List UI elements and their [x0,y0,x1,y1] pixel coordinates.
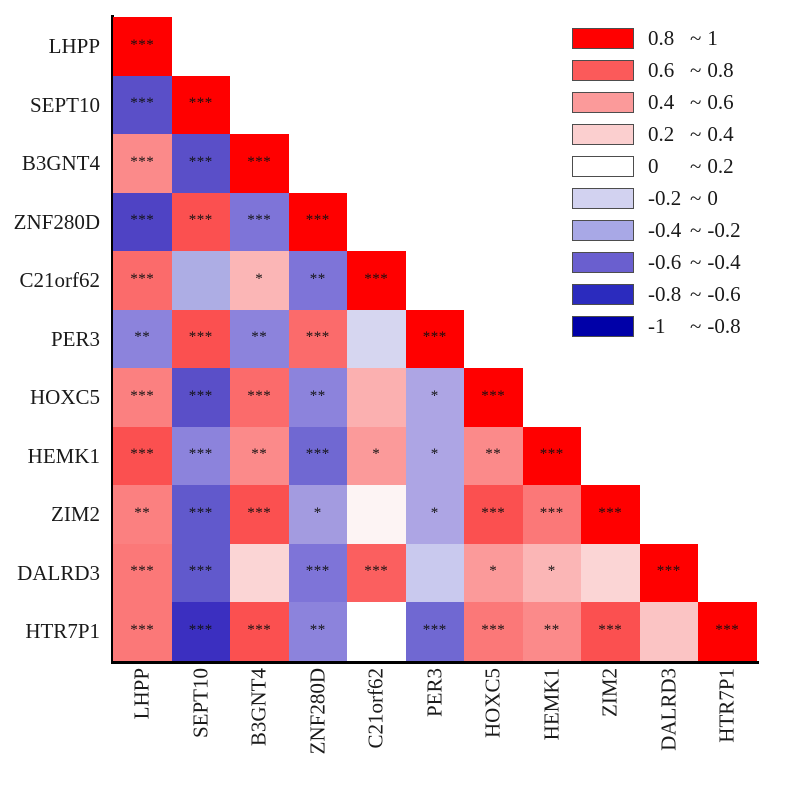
legend-label: 0.2~0.4 [648,122,734,147]
significance-stars: *** [306,564,330,579]
heatmap-cell-hemk1-hemk1[interactable]: *** [523,427,582,486]
legend-range-high: 0.8 [707,58,733,83]
legend-swatch [572,220,634,241]
x-axis-label-htr7p1: HTR7P1 [698,666,757,784]
heatmap-cell-htr7p1-hoxc5[interactable]: *** [464,602,523,661]
heatmap-cell-htr7p1-htr7p1[interactable]: *** [698,602,757,661]
heatmap-row: ****************** [113,427,757,486]
legend-swatch [572,156,634,177]
heatmap-cell-hoxc5-sept10[interactable]: *** [172,368,231,427]
heatmap-cell-dalrd3-hoxc5[interactable]: * [464,544,523,603]
legend-label: -0.6~-0.4 [648,250,741,275]
heatmap-cell-c21orf62-sept10[interactable] [172,251,231,310]
significance-stars: *** [657,564,681,579]
significance-stars: *** [130,564,154,579]
significance-stars: *** [247,389,271,404]
heatmap-cell-c21orf62-c21orf62[interactable]: *** [347,251,406,310]
legend-range-high: -0.2 [707,218,740,243]
significance-stars: * [255,272,263,287]
heatmap-cell-dalrd3-zim2[interactable] [581,544,640,603]
significance-stars: *** [481,389,505,404]
legend-label: 0~0.2 [648,154,734,179]
significance-stars: * [489,564,497,579]
significance-stars: *** [540,506,564,521]
legend-range-high: 0.6 [707,90,733,115]
significance-stars: *** [247,213,271,228]
significance-stars: ** [134,506,150,521]
heatmap-cell-c21orf62-lhpp[interactable]: *** [113,251,172,310]
significance-stars: *** [130,213,154,228]
legend-range-separator: ~ [690,218,701,243]
significance-stars: ** [310,623,326,638]
heatmap-row: *************** [113,368,757,427]
legend-label: -1~-0.8 [648,314,741,339]
legend-swatch [572,124,634,145]
heatmap-cell-hemk1-c21orf62[interactable]: * [347,427,406,486]
x-axis-line [111,661,759,664]
significance-stars: ** [485,447,501,462]
legend-swatch [572,284,634,305]
heatmap-cell-htr7p1-lhpp[interactable]: *** [113,602,172,661]
significance-stars: *** [306,447,330,462]
y-axis-labels: LHPPSEPT10B3GNT4ZNF280DC21orf62PER3HOXC5… [0,17,106,661]
legend-range-separator: ~ [690,26,701,51]
heatmap-cell-zim2-hemk1[interactable]: *** [523,485,582,544]
legend-swatch [572,60,634,81]
significance-stars: *** [423,623,447,638]
significance-stars: ** [134,330,150,345]
significance-stars: *** [306,213,330,228]
x-axis-label-c21orf62: C21orf62 [347,666,406,784]
significance-stars: *** [189,330,213,345]
heatmap-cell-b3gnt4-b3gnt4[interactable]: *** [230,134,289,193]
heatmap-cell-dalrd3-sept10[interactable]: *** [172,544,231,603]
heatmap-cell-hoxc5-per3[interactable]: * [406,368,465,427]
heatmap-cell-htr7p1-b3gnt4[interactable]: *** [230,602,289,661]
legend-row: 0~0.2 [572,150,797,182]
x-axis-label-znf280d: ZNF280D [289,666,348,784]
heatmap-cell-hemk1-znf280d[interactable]: *** [289,427,348,486]
y-axis-label-b3gnt4: B3GNT4 [0,134,106,193]
heatmap-cell-htr7p1-sept10[interactable]: *** [172,602,231,661]
x-axis-label-hemk1: HEMK1 [523,666,582,784]
heatmap-cell-zim2-sept10[interactable]: *** [172,485,231,544]
significance-stars: *** [130,389,154,404]
legend-range-separator: ~ [690,250,701,275]
heatmap-cell-htr7p1-zim2[interactable]: *** [581,602,640,661]
significance-stars: *** [306,330,330,345]
legend-range-separator: ~ [690,282,701,307]
heatmap-cell-per3-znf280d[interactable]: *** [289,310,348,369]
x-axis-label-text: C21orf62 [364,668,389,749]
legend-row: -1~-0.8 [572,310,797,342]
significance-stars: *** [189,506,213,521]
y-axis-label-sept10: SEPT10 [0,76,106,135]
significance-stars: *** [130,272,154,287]
y-axis-label-hoxc5: HOXC5 [0,368,106,427]
legend-range-high: -0.4 [707,250,740,275]
correlation-heatmap-figure: LHPPSEPT10B3GNT4ZNF280DC21orf62PER3HOXC5… [0,0,800,788]
heatmap-cell-per3-sept10[interactable]: *** [172,310,231,369]
heatmap-row: ******************* [113,485,757,544]
significance-stars: ** [310,272,326,287]
x-axis-label-text: ZNF280D [305,668,330,754]
y-axis-label-hemk1: HEMK1 [0,427,106,486]
legend-label: 0.8~1 [648,26,718,51]
legend-range-separator: ~ [690,154,701,179]
significance-stars: *** [715,623,739,638]
significance-stars: *** [189,389,213,404]
legend-label: -0.4~-0.2 [648,218,741,243]
legend-range-separator: ~ [690,314,701,339]
heatmap-cell-htr7p1-hemk1[interactable]: ** [523,602,582,661]
heatmap-cell-znf280d-lhpp[interactable]: *** [113,193,172,252]
legend-range-high: -0.6 [707,282,740,307]
x-axis-label-text: HOXC5 [481,668,506,738]
significance-stars: *** [540,447,564,462]
heatmap-cell-sept10-sept10[interactable]: *** [172,76,231,135]
legend-range-separator: ~ [690,122,701,147]
legend-swatch [572,28,634,49]
significance-stars: *** [189,155,213,170]
legend-range-high: -0.8 [707,314,740,339]
significance-stars: *** [189,96,213,111]
heatmap-cell-dalrd3-znf280d[interactable]: *** [289,544,348,603]
significance-stars: *** [130,447,154,462]
heatmap-cell-htr7p1-znf280d[interactable]: ** [289,602,348,661]
heatmap-cell-per3-c21orf62[interactable] [347,310,406,369]
legend-range-low: -0.2 [648,186,688,211]
significance-stars: *** [247,623,271,638]
significance-stars: * [431,389,439,404]
heatmap-cell-b3gnt4-sept10[interactable]: *** [172,134,231,193]
x-axis-label-text: HEMK1 [539,668,564,740]
significance-stars: ** [251,447,267,462]
significance-stars: ** [251,330,267,345]
legend-swatch [572,188,634,209]
legend-range-high: 0.4 [707,122,733,147]
x-axis-label-text: SEPT10 [188,668,213,738]
heatmap-cell-hoxc5-c21orf62[interactable] [347,368,406,427]
x-axis-labels: LHPPSEPT10B3GNT4ZNF280DC21orf62PER3HOXC5… [113,666,757,786]
heatmap-cell-hoxc5-b3gnt4[interactable]: *** [230,368,289,427]
legend-range-low: 0.6 [648,58,688,83]
heatmap-cell-zim2-hoxc5[interactable]: *** [464,485,523,544]
x-axis-label-zim2: ZIM2 [581,666,640,784]
heatmap-cell-znf280d-b3gnt4[interactable]: *** [230,193,289,252]
heatmap-cell-zim2-b3gnt4[interactable]: *** [230,485,289,544]
legend-range-high: 1 [707,26,718,51]
x-axis-label-text: PER3 [422,668,447,717]
significance-stars: *** [247,506,271,521]
legend-range-low: 0.4 [648,90,688,115]
heatmap-cell-zim2-c21orf62[interactable] [347,485,406,544]
x-axis-label-sept10: SEPT10 [172,666,231,784]
significance-stars: * [431,506,439,521]
heatmap-cell-znf280d-znf280d[interactable]: *** [289,193,348,252]
legend-row: -0.4~-0.2 [572,214,797,246]
x-axis-label-text: DALRD3 [656,668,681,751]
y-axis-label-zim2: ZIM2 [0,485,106,544]
significance-stars: *** [130,96,154,111]
heatmap-cell-hoxc5-hoxc5[interactable]: *** [464,368,523,427]
significance-stars: *** [598,506,622,521]
heatmap-cell-sept10-lhpp[interactable]: *** [113,76,172,135]
heatmap-cell-htr7p1-c21orf62[interactable] [347,602,406,661]
significance-stars: * [314,506,322,521]
x-axis-label-b3gnt4: B3GNT4 [230,666,289,784]
legend-range-separator: ~ [690,186,701,211]
heatmap-row: ************************* [113,602,757,661]
legend-range-low: -0.6 [648,250,688,275]
heatmap-cell-hemk1-hoxc5[interactable]: ** [464,427,523,486]
legend-swatch [572,92,634,113]
significance-stars: *** [189,564,213,579]
heatmap-cell-hemk1-per3[interactable]: * [406,427,465,486]
legend-range-low: 0 [648,154,688,179]
significance-stars: *** [598,623,622,638]
significance-stars: *** [423,330,447,345]
heatmap-cell-per3-per3[interactable]: *** [406,310,465,369]
heatmap-cell-dalrd3-per3[interactable] [406,544,465,603]
legend-label: -0.2~0 [648,186,718,211]
y-axis-label-znf280d: ZNF280D [0,193,106,252]
legend-range-low: 0.8 [648,26,688,51]
significance-stars: *** [130,155,154,170]
x-axis-label-text: LHPP [130,668,155,719]
heatmap-cell-per3-b3gnt4[interactable]: ** [230,310,289,369]
x-axis-label-text: HTR7P1 [715,668,740,743]
significance-stars: *** [189,623,213,638]
heatmap-cell-dalrd3-dalrd3[interactable]: *** [640,544,699,603]
significance-stars: *** [481,623,505,638]
legend-row: 0.6~0.8 [572,54,797,86]
significance-stars: *** [130,38,154,53]
heatmap-cell-c21orf62-znf280d[interactable]: ** [289,251,348,310]
legend-row: 0.2~0.4 [572,118,797,150]
legend-row: -0.8~-0.6 [572,278,797,310]
legend-label: 0.6~0.8 [648,58,734,83]
heatmap-cell-per3-lhpp[interactable]: ** [113,310,172,369]
legend-range-high: 0 [707,186,718,211]
legend-range-separator: ~ [690,90,701,115]
legend-row: -0.6~-0.4 [572,246,797,278]
legend-range-separator: ~ [690,58,701,83]
legend-swatch [572,252,634,273]
x-axis-label-hoxc5: HOXC5 [464,666,523,784]
legend-range-low: -0.4 [648,218,688,243]
y-axis-label-per3: PER3 [0,310,106,369]
heatmap-cell-hemk1-sept10[interactable]: *** [172,427,231,486]
y-axis-label-lhpp: LHPP [0,17,106,76]
heatmap-cell-htr7p1-dalrd3[interactable] [640,602,699,661]
significance-stars: * [431,447,439,462]
significance-stars: *** [364,564,388,579]
heatmap-cell-hemk1-lhpp[interactable]: *** [113,427,172,486]
heatmap-cell-c21orf62-b3gnt4[interactable]: * [230,251,289,310]
heatmap-cell-hemk1-b3gnt4[interactable]: ** [230,427,289,486]
heatmap-cell-znf280d-sept10[interactable]: *** [172,193,231,252]
heatmap-cell-zim2-znf280d[interactable]: * [289,485,348,544]
y-axis-label-c21orf62: C21orf62 [0,251,106,310]
legend-swatch [572,316,634,337]
heatmap-cell-htr7p1-per3[interactable]: *** [406,602,465,661]
x-axis-label-per3: PER3 [406,666,465,784]
significance-stars: *** [247,155,271,170]
significance-stars: *** [130,623,154,638]
heatmap-cell-dalrd3-b3gnt4[interactable] [230,544,289,603]
heatmap-cell-zim2-lhpp[interactable]: ** [113,485,172,544]
heatmap-cell-lhpp-lhpp[interactable]: *** [113,17,172,76]
heatmap-cell-dalrd3-hemk1[interactable]: * [523,544,582,603]
legend-range-low: -1 [648,314,688,339]
heatmap-cell-dalrd3-c21orf62[interactable]: *** [347,544,406,603]
y-axis-label-dalrd3: DALRD3 [0,544,106,603]
y-axis-label-htr7p1: HTR7P1 [0,602,106,661]
legend-range-low: -0.8 [648,282,688,307]
color-legend: 0.8~10.6~0.80.4~0.60.2~0.40~0.2-0.2~0-0.… [572,22,797,342]
legend-row: 0.8~1 [572,22,797,54]
legend-label: 0.4~0.6 [648,90,734,115]
significance-stars: * [372,447,380,462]
significance-stars: *** [189,213,213,228]
heatmap-cell-zim2-per3[interactable]: * [406,485,465,544]
significance-stars: * [548,564,556,579]
significance-stars: *** [364,272,388,287]
x-axis-label-lhpp: LHPP [113,666,172,784]
significance-stars: *** [189,447,213,462]
heatmap-cell-hoxc5-znf280d[interactable]: ** [289,368,348,427]
significance-stars: ** [310,389,326,404]
heatmap-cell-zim2-zim2[interactable]: *** [581,485,640,544]
legend-row: -0.2~0 [572,182,797,214]
x-axis-label-text: ZIM2 [598,668,623,717]
x-axis-label-dalrd3: DALRD3 [640,666,699,784]
heatmap-cell-b3gnt4-lhpp[interactable]: *** [113,134,172,193]
significance-stars: ** [544,623,560,638]
heatmap-row: ***************** [113,544,757,603]
heatmap-cell-hoxc5-lhpp[interactable]: *** [113,368,172,427]
legend-range-low: 0.2 [648,122,688,147]
significance-stars: *** [481,506,505,521]
x-axis-label-text: B3GNT4 [247,668,272,746]
legend-label: -0.8~-0.6 [648,282,741,307]
heatmap-cell-dalrd3-lhpp[interactable]: *** [113,544,172,603]
legend-row: 0.4~0.6 [572,86,797,118]
legend-range-high: 0.2 [707,154,733,179]
